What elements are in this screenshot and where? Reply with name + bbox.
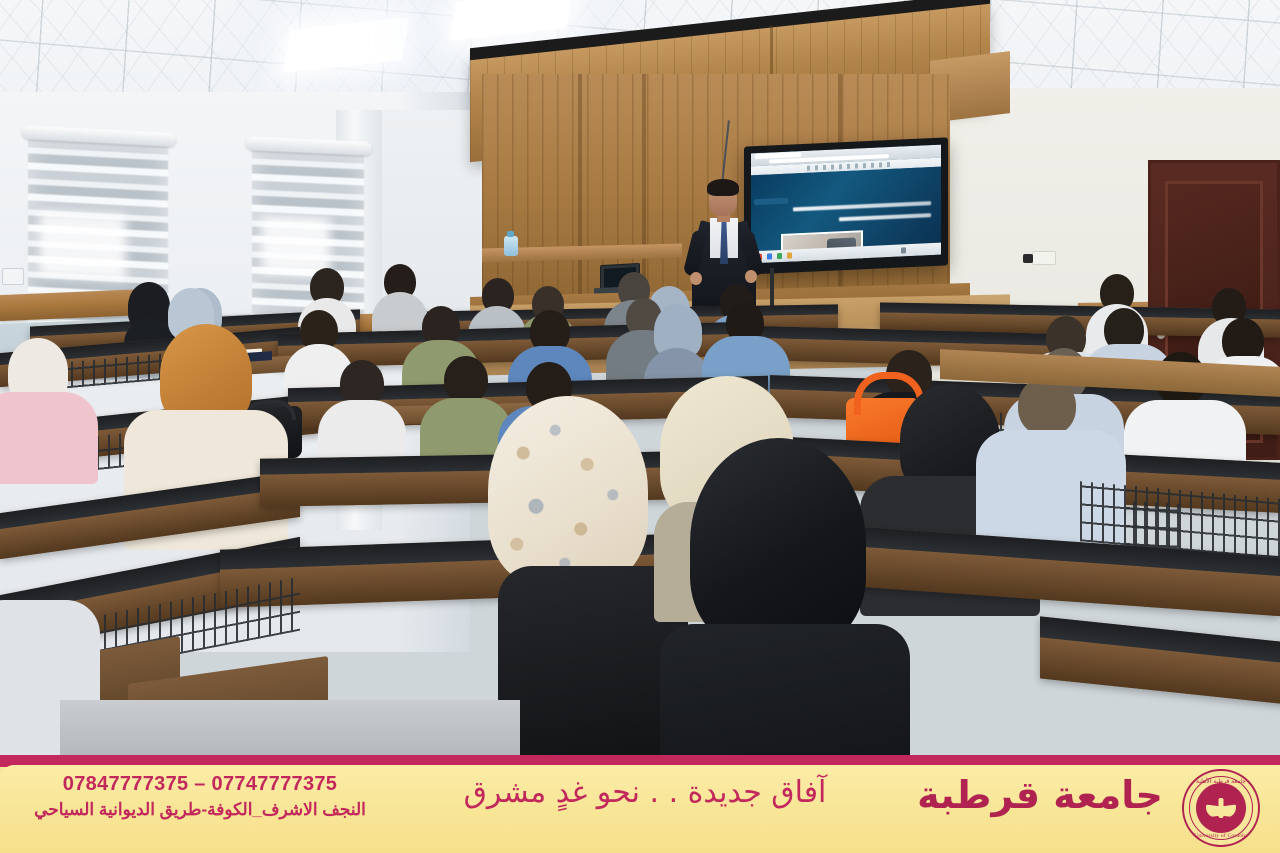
presentation-slide — [751, 167, 941, 252]
address-line: النجف الاشرف_الكوفة-طريق الديوانية السيا… — [0, 800, 400, 820]
seal-english-text: University of Cordoba — [1184, 833, 1258, 839]
window-light — [261, 215, 330, 277]
window-light — [39, 211, 126, 280]
university-name: جامعة قرطبة — [905, 773, 1175, 817]
hijab — [690, 438, 866, 648]
torso — [0, 392, 98, 484]
panel-seam — [642, 74, 646, 304]
power-socket — [2, 268, 24, 285]
screenshot-root: 07847777375 – 07747777375 النجف الاشرف_ا… — [0, 0, 1280, 853]
hijab — [488, 396, 648, 586]
lecture-hall-photo — [0, 0, 1280, 755]
floor — [60, 700, 520, 755]
presenter-hand — [745, 270, 757, 283]
head — [444, 356, 488, 404]
taskbar-icon — [777, 253, 782, 259]
auditorium-seating — [0, 300, 1280, 755]
taskbar-icon — [901, 247, 906, 253]
seal-center-word: Cordoba — [1196, 811, 1246, 816]
slide-text-line — [793, 201, 931, 211]
panel-seam — [578, 74, 582, 304]
interactive-display[interactable] — [744, 137, 948, 274]
seal-inner-disc: Cordoba — [1196, 783, 1246, 833]
bench-row[interactable] — [1040, 616, 1280, 705]
hijab-pattern — [488, 396, 648, 586]
taskbar-icon — [767, 253, 772, 259]
university-seal-icon: جامعة قرطبة الأهلية Cordoba University o… — [1182, 769, 1260, 847]
taskbar-icon — [787, 252, 792, 258]
presenter-hair — [707, 179, 739, 196]
university-banner: 07847777375 – 07747777375 النجف الاشرف_ا… — [0, 755, 1280, 853]
torso — [660, 624, 910, 755]
power-socket — [1032, 251, 1056, 265]
contact-block: 07847777375 – 07747777375 النجف الاشرف_ا… — [0, 773, 400, 820]
slide-text-line — [839, 213, 931, 221]
phone-numbers: 07847777375 – 07747777375 — [0, 773, 400, 796]
water-bottle — [504, 236, 518, 256]
display-screen — [751, 145, 941, 264]
slogan-text: آفاق جديدة . . نحو غدٍ مشرق — [420, 775, 870, 810]
presenter-hand — [690, 272, 702, 285]
